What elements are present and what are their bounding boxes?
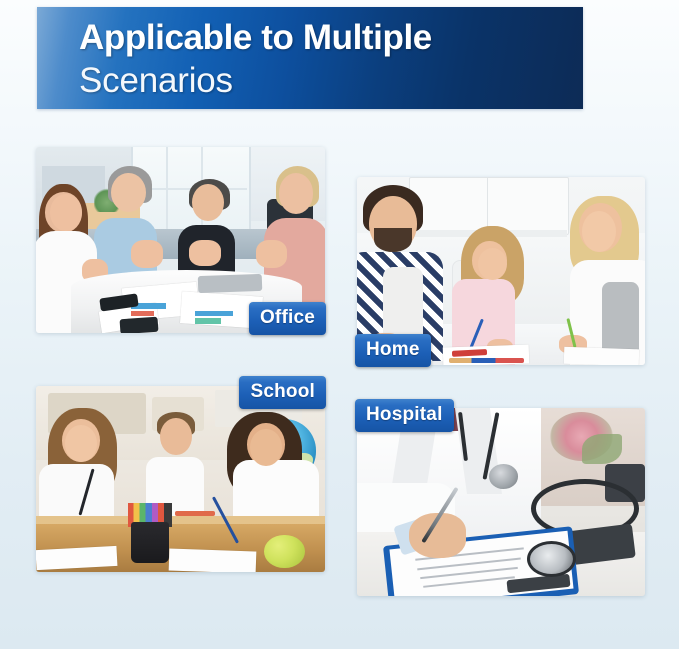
school-photo: [36, 386, 325, 572]
scenario-card-hospital[interactable]: Hospital: [357, 408, 645, 596]
badge-home: Home: [355, 334, 431, 367]
badge-hospital: Hospital: [355, 399, 454, 432]
scenario-card-home[interactable]: Home: [357, 177, 645, 365]
scenario-card-office[interactable]: Office: [36, 147, 325, 333]
header-banner: Applicable to Multiple Scenarios: [37, 7, 583, 109]
hospital-scene: [357, 408, 645, 596]
badge-school: School: [239, 376, 326, 409]
header-banner-inner: Applicable to Multiple Scenarios: [37, 7, 583, 103]
school-scene: [36, 386, 325, 572]
badge-office: Office: [249, 302, 326, 335]
scenario-card-school[interactable]: School: [36, 386, 325, 572]
hospital-photo: [357, 408, 645, 596]
page-title-line2: Scenarios: [79, 59, 583, 103]
page-root: Applicable to Multiple Scenarios: [0, 0, 679, 649]
page-title-line1: Applicable to Multiple: [79, 16, 583, 59]
